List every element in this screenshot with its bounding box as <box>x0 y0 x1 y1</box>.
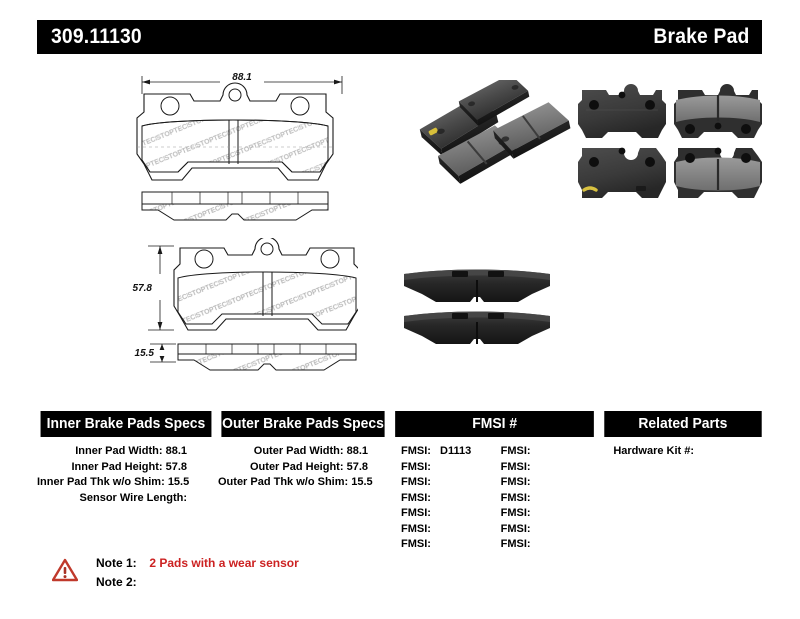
fmsi-row: FMSI: <box>399 537 499 553</box>
header-bar: 309.11130 Brake Pad <box>37 20 762 54</box>
fmsi-row: FMSI: <box>499 491 599 507</box>
fmsi-value <box>531 461 537 473</box>
fmsi-label: FMSI: <box>501 476 531 488</box>
fmsi-row: FMSI: <box>399 460 499 476</box>
fmsi-value: D1113 <box>434 445 471 457</box>
fmsi-label: FMSI: <box>501 492 531 504</box>
product-photo-angled-set <box>396 80 576 200</box>
fmsi-label: FMSI: <box>401 507 431 519</box>
column-header-related-parts: Related Parts <box>605 411 762 437</box>
spec-label: Outer Pad Width: <box>254 445 344 457</box>
column-header-inner: Inner Brake Pads Specs <box>41 411 212 437</box>
fmsi-row: FMSI: <box>499 506 599 522</box>
fmsi-value <box>431 492 437 504</box>
fmsi-label: FMSI: <box>401 476 431 488</box>
fmsi-row: FMSI: <box>499 444 599 460</box>
dimension-label-width: 88.1 <box>232 72 252 83</box>
spec-value: 57.8 <box>166 461 187 473</box>
fmsi-label: FMSI: <box>401 538 431 550</box>
note-2-label: Note 2: <box>96 573 146 592</box>
column-body-related-parts: Hardware Kit #: <box>601 437 765 460</box>
spec-value: 88.1 <box>347 445 368 457</box>
spec-value: 15.5 <box>351 476 372 488</box>
note-lines: Note 1: 2 Pads with a wear sensor Note 2… <box>96 554 299 592</box>
fmsi-label: FMSI: <box>401 461 431 473</box>
note-line-2: Note 2: <box>96 573 299 592</box>
fmsi-row: FMSI: <box>399 506 499 522</box>
fmsi-value <box>431 476 437 488</box>
spec-label: Inner Pad Width: <box>75 445 162 457</box>
fmsi-row: FMSI: <box>399 522 499 538</box>
fmsi-label: FMSI: <box>401 523 431 535</box>
fmsi-label: FMSI: <box>401 445 431 457</box>
fmsi-row: FMSI: <box>499 460 599 476</box>
product-type-title: Brake Pad <box>654 25 750 49</box>
fmsi-value <box>431 538 437 550</box>
fmsi-value <box>531 476 537 488</box>
related-part-label: Hardware Kit #: <box>613 445 694 457</box>
fmsi-row: FMSI: <box>499 522 599 538</box>
note-1-value: 2 Pads with a wear sensor <box>149 556 298 570</box>
spec-row: Inner Pad Thk w/o Shim: 15.5 <box>37 475 215 491</box>
spec-row: Inner Pad Width: 88.1 <box>37 444 215 460</box>
spec-table: Inner Brake Pads Specs Inner Pad Width: … <box>37 411 765 541</box>
fmsi-value <box>431 523 437 535</box>
column-body-inner: Inner Pad Width: 88.1 Inner Pad Height: … <box>37 437 215 506</box>
technical-drawing-front-view: STOPTECH 57.8 15.5 <box>128 238 358 378</box>
related-part-row: Hardware Kit #: <box>611 444 765 460</box>
fmsi-label: FMSI: <box>501 461 531 473</box>
column-header-fmsi: FMSI # <box>395 411 594 437</box>
fmsi-value <box>531 538 537 550</box>
fmsi-row: FMSI: <box>499 537 599 553</box>
column-body-outer: Outer Pad Width: 88.1 Outer Pad Height: … <box>218 437 388 491</box>
fmsi-value <box>531 445 537 457</box>
spec-value: 15.5 <box>168 476 189 488</box>
spec-row: Sensor Wire Length: <box>37 491 215 507</box>
product-photo-edge-set <box>396 256 566 356</box>
spec-row: Inner Pad Height: 57.8 <box>37 460 215 476</box>
fmsi-subcolumn-right: FMSI: FMSI: FMSI: FMSI: FMSI: <box>499 444 599 553</box>
spec-row: Outer Pad Height: 57.8 <box>218 460 388 476</box>
spec-label: Outer Pad Height: <box>250 461 344 473</box>
spec-label: Outer Pad Thk w/o Shim: <box>218 476 348 488</box>
spec-value: 57.8 <box>347 461 368 473</box>
spec-row: Outer Pad Thk w/o Shim: 15.5 <box>218 475 388 491</box>
fmsi-value <box>431 461 437 473</box>
note-1-label: Note 1: <box>96 554 146 573</box>
fmsi-row: FMSI: D1113 <box>399 444 499 460</box>
fmsi-subcolumn-left: FMSI: D1113 FMSI: FMSI: FMSI: FMSI: <box>399 444 499 553</box>
spec-column-outer: Outer Brake Pads Specs Outer Pad Width: … <box>218 411 388 541</box>
notes-section: Note 1: 2 Pads with a wear sensor Note 2… <box>52 554 299 592</box>
dimension-label-height: 57.8 <box>133 283 153 294</box>
spec-label: Inner Pad Height: <box>71 461 162 473</box>
warning-triangle-icon <box>52 558 78 582</box>
fmsi-value <box>531 492 537 504</box>
spec-label: Sensor Wire Length: <box>80 492 187 504</box>
spec-column-related-parts: Related Parts Hardware Kit #: <box>601 411 765 541</box>
fmsi-row: FMSI: <box>399 475 499 491</box>
spec-column-inner: Inner Brake Pads Specs Inner Pad Width: … <box>37 411 215 541</box>
fmsi-value <box>431 507 437 519</box>
fmsi-row: FMSI: <box>399 491 499 507</box>
fmsi-label: FMSI: <box>501 445 531 457</box>
fmsi-value <box>531 507 537 519</box>
note-line-1: Note 1: 2 Pads with a wear sensor <box>96 554 299 573</box>
product-photo-grid-set <box>576 80 766 205</box>
fmsi-row: FMSI: <box>499 475 599 491</box>
fmsi-label: FMSI: <box>501 538 531 550</box>
dimension-label-thickness: 15.5 <box>135 348 155 359</box>
related-part-value <box>694 445 700 457</box>
fmsi-label: FMSI: <box>501 507 531 519</box>
spec-value: 88.1 <box>166 445 187 457</box>
column-body-fmsi: FMSI: D1113 FMSI: FMSI: FMSI: FMSI: <box>391 437 598 553</box>
spec-row: Outer Pad Width: 88.1 <box>218 444 388 460</box>
spec-column-fmsi: FMSI # FMSI: D1113 FMSI: FMSI: FMSI: <box>391 411 598 541</box>
column-header-outer: Outer Brake Pads Specs <box>221 411 384 437</box>
spec-label: Inner Pad Thk w/o Shim: <box>37 476 165 488</box>
part-number: 309.11130 <box>51 25 142 49</box>
illustration-area: STOPTECH 88.1 <box>0 58 800 388</box>
fmsi-value <box>531 523 537 535</box>
fmsi-label: FMSI: <box>501 523 531 535</box>
fmsi-label: FMSI: <box>401 492 431 504</box>
technical-drawing-top-view: STOPTECH 88.1 <box>128 68 358 233</box>
